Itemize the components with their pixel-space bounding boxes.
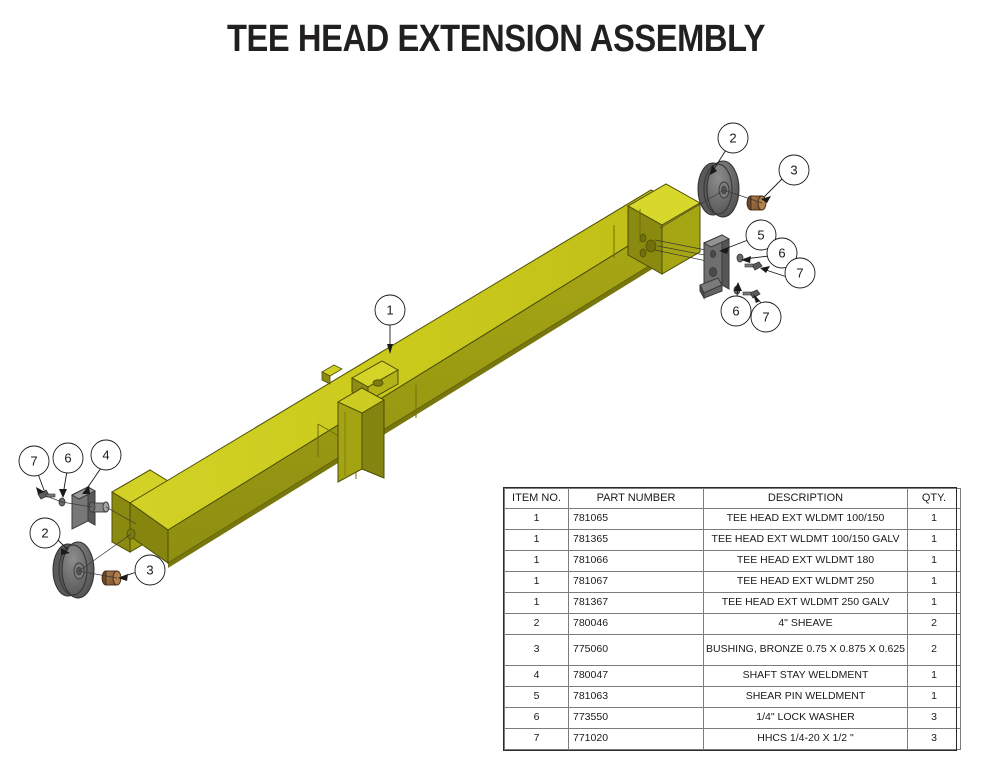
table-row: 1781365TEE HEAD EXT WLDMT 100/150 GALV1 (505, 530, 961, 551)
cell-qty: 1 (908, 666, 961, 687)
cell-description: TEE HEAD EXT WLDMT 250 (704, 572, 908, 593)
lock-washer-upper (737, 254, 743, 262)
balloon-callout-7: 7 (751, 302, 781, 332)
cell-part-number: 780047 (569, 666, 704, 687)
balloon-label: 1 (386, 303, 393, 318)
cell-part-number: 781365 (569, 530, 704, 551)
table-row: 1781367TEE HEAD EXT WLDMT 250 GALV1 (505, 593, 961, 614)
table-row: 67735501/4" LOCK WASHER3 (505, 708, 961, 729)
balloon-label: 5 (757, 228, 764, 243)
cell-item-no: 6 (505, 708, 569, 729)
cell-description: SHAFT STAY WELDMENT (704, 666, 908, 687)
cell-item-no: 5 (505, 687, 569, 708)
balloon-label: 6 (732, 304, 739, 319)
cell-qty: 2 (908, 635, 961, 666)
cell-item-no: 1 (505, 572, 569, 593)
cell-description: BUSHING, BRONZE 0.75 X 0.875 X 0.625 (704, 635, 908, 666)
cell-part-number: 781066 (569, 551, 704, 572)
cell-part-number: 780046 (569, 614, 704, 635)
cell-item-no: 1 (505, 551, 569, 572)
balloon-callout-4: 4 (91, 440, 121, 470)
cell-part-number: 781065 (569, 509, 704, 530)
hex-bolt-upper-2 (743, 290, 760, 298)
cell-description: 1/4" LOCK WASHER (704, 708, 908, 729)
bill-of-materials-table: ITEM NO. PART NUMBER DESCRIPTION QTY. 17… (504, 488, 956, 750)
cell-qty: 3 (908, 708, 961, 729)
header-qty: QTY. (908, 489, 961, 509)
cell-part-number: 773550 (569, 708, 704, 729)
table-row: 1781065TEE HEAD EXT WLDMT 100/1501 (505, 509, 961, 530)
table-row: 3775060BUSHING, BRONZE 0.75 X 0.875 X 0.… (505, 635, 961, 666)
shaft-stay-weldment (72, 487, 109, 529)
balloon-callout-2: 2 (30, 518, 60, 548)
balloon-callout-3: 3 (135, 555, 165, 585)
header-description: DESCRIPTION (704, 489, 908, 509)
balloon-callout-2: 2 (718, 123, 748, 153)
cell-item-no: 7 (505, 729, 569, 750)
balloon-label: 3 (146, 563, 153, 578)
cell-part-number: 781067 (569, 572, 704, 593)
balloon-callout-6: 6 (53, 443, 83, 473)
sheave-upper (698, 161, 739, 217)
balloon-label: 6 (64, 451, 71, 466)
shear-pin-weldment (700, 235, 729, 298)
cell-item-no: 3 (505, 635, 569, 666)
cell-qty: 1 (908, 509, 961, 530)
cell-item-no: 1 (505, 530, 569, 551)
cell-description: 4" SHEAVE (704, 614, 908, 635)
cell-qty: 3 (908, 729, 961, 750)
balloon-callout-3: 3 (779, 155, 809, 185)
cell-item-no: 2 (505, 614, 569, 635)
cell-item-no: 1 (505, 593, 569, 614)
balloon-label: 2 (729, 131, 736, 146)
table-row: 4780047SHAFT STAY WELDMENT1 (505, 666, 961, 687)
cell-description: TEE HEAD EXT WLDMT 180 (704, 551, 908, 572)
cell-qty: 1 (908, 687, 961, 708)
cell-item-no: 4 (505, 666, 569, 687)
cell-part-number: 781063 (569, 687, 704, 708)
balloon-callout-1: 1 (375, 295, 405, 325)
table-row: 5781063SHEAR PIN WELDMENT1 (505, 687, 961, 708)
table-header-row: ITEM NO. PART NUMBER DESCRIPTION QTY. (505, 489, 961, 509)
cell-description: TEE HEAD EXT WLDMT 250 GALV (704, 593, 908, 614)
bushing-upper (747, 196, 766, 210)
table-row: 1781066TEE HEAD EXT WLDMT 1801 (505, 551, 961, 572)
cell-qty: 1 (908, 530, 961, 551)
cell-part-number: 781367 (569, 593, 704, 614)
cell-description: SHEAR PIN WELDMENT (704, 687, 908, 708)
table-row: 1781067TEE HEAD EXT WLDMT 2501 (505, 572, 961, 593)
cell-part-number: 771020 (569, 729, 704, 750)
balloon-callout-6: 6 (721, 296, 751, 326)
cell-qty: 1 (908, 593, 961, 614)
balloon-label: 7 (796, 266, 803, 281)
balloon-label: 7 (30, 454, 37, 469)
cell-item-no: 1 (505, 509, 569, 530)
cell-qty: 1 (908, 551, 961, 572)
cell-description: TEE HEAD EXT WLDMT 100/150 GALV (704, 530, 908, 551)
table-row: 7771020HHCS 1/4-20 X 1/2 "3 (505, 729, 961, 750)
header-item-no: ITEM NO. (505, 489, 569, 509)
cell-qty: 1 (908, 572, 961, 593)
cell-qty: 2 (908, 614, 961, 635)
hex-bolt-upper (745, 262, 762, 270)
cell-description: TEE HEAD EXT WLDMT 100/150 (704, 509, 908, 530)
balloon-label: 3 (790, 163, 797, 178)
balloon-label: 4 (102, 448, 109, 463)
cell-part-number: 775060 (569, 635, 704, 666)
balloon-callout-7: 7 (19, 446, 49, 476)
cell-description: HHCS 1/4-20 X 1/2 " (704, 729, 908, 750)
table-row: 27800464" SHEAVE2 (505, 614, 961, 635)
balloon-label: 7 (762, 310, 769, 325)
sheave-lower (53, 542, 94, 598)
balloon-label: 6 (778, 246, 785, 261)
header-part-number: PART NUMBER (569, 489, 704, 509)
balloon-callout-7: 7 (785, 258, 815, 288)
balloon-label: 2 (41, 526, 48, 541)
